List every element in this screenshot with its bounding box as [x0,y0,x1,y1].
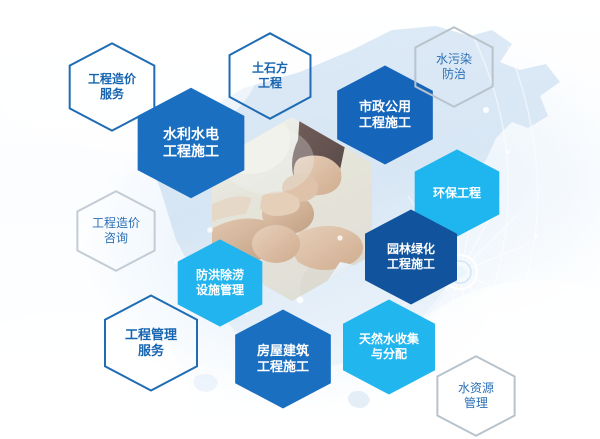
hex-natural-water-collection-distribution-label: 天然水收集与分配 [355,332,423,362]
label-line: 环保工程 [433,186,481,201]
hex-municipal-public-works-construction-label: 市政公用工程施工 [355,99,415,132]
label-line: 工程施工 [163,143,219,161]
label-line: 水污染 [436,52,472,67]
hex-engineering-management-service[interactable]: 工程管理服务 [101,294,201,392]
hex-environmental-protection-engineering-label: 环保工程 [429,186,485,201]
label-line: 房屋建筑 [257,343,309,359]
hex-water-conservancy-hydropower-construction-label: 水利水电工程施工 [159,126,223,161]
hex-housing-construction-engineering-label: 房屋建筑工程施工 [253,343,313,376]
hex-earthwork-engineering-label: 土石方工程 [248,61,292,91]
label-line: 市政公用 [359,99,411,115]
label-line: 服务 [125,343,177,359]
hex-natural-water-collection-distribution[interactable]: 天然水收集与分配 [339,298,439,396]
hex-water-pollution-control-label: 水污染防治 [432,52,476,82]
label-line: 工程施工 [387,257,435,272]
label-line: 工程造价 [88,72,136,87]
label-line: 设施管理 [196,283,244,298]
hex-engineering-cost-service-label: 工程造价服务 [84,72,140,102]
hex-engineering-cost-consulting-label: 工程造价咨询 [88,216,144,246]
hex-water-conservancy-hydropower-construction[interactable]: 水利水电工程施工 [133,86,249,200]
hex-landscaping-engineering-construction-label: 园林绿化工程施工 [383,242,439,272]
label-line: 水资源 [458,381,494,396]
hex-water-resource-management[interactable]: 水资源管理 [434,355,518,437]
label-line: 工程造价 [92,216,140,231]
hex-landscaping-engineering-construction[interactable]: 园林绿化工程施工 [361,208,461,306]
label-line: 工程 [252,76,288,91]
hex-water-resource-management-label: 水资源管理 [454,381,498,411]
label-line: 防洪除涝 [196,268,244,283]
label-line: 工程施工 [359,115,411,131]
hex-housing-construction-engineering[interactable]: 房屋建筑工程施工 [231,308,335,410]
hexagon-node-layer: 工程造价服务土石方工程水利水电工程施工市政公用工程施工水污染防治环保工程工程造价… [0,0,600,439]
label-line: 水利水电 [163,126,219,144]
label-line: 天然水收集 [359,332,419,347]
label-line: 土石方 [252,61,288,76]
label-line: 管理 [458,396,494,411]
label-line: 防治 [436,67,472,82]
label-line: 工程施工 [257,359,309,375]
hexagon-capability-graphic: 工程造价服务土石方工程水利水电工程施工市政公用工程施工水污染防治环保工程工程造价… [0,0,600,439]
hex-engineering-management-service-label: 工程管理服务 [121,327,181,360]
label-line: 咨询 [92,231,140,246]
label-line: 与分配 [359,347,419,362]
label-line: 工程管理 [125,327,177,343]
hex-water-pollution-control[interactable]: 水污染防治 [412,26,496,108]
label-line: 园林绿化 [387,242,435,257]
label-line: 服务 [88,87,136,102]
hex-engineering-cost-consulting[interactable]: 工程造价咨询 [74,190,158,272]
hex-flood-control-drainage-facility-management-label: 防洪除涝设施管理 [192,268,248,298]
